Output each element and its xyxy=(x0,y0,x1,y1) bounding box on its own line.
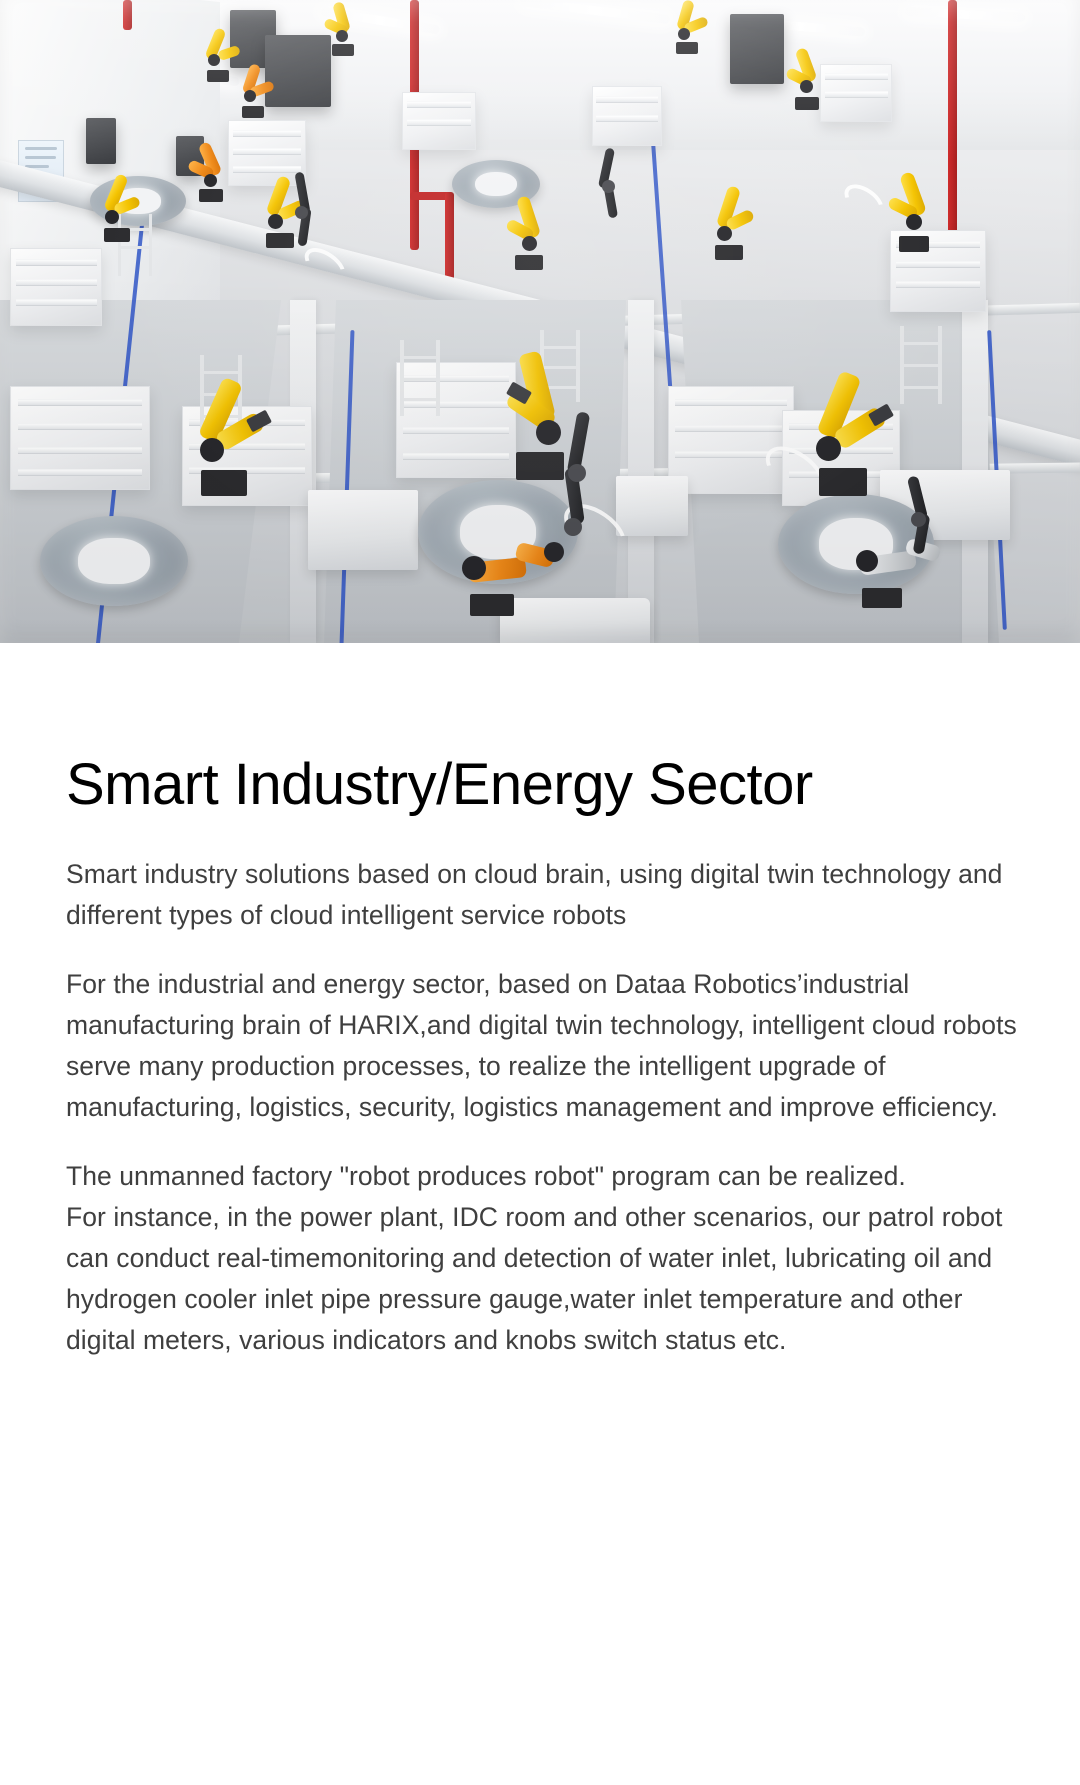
robot-arm xyxy=(500,190,558,270)
article-body: Smart industry solutions based on cloud … xyxy=(0,854,1080,1361)
article-content: Smart Industry/Energy Sector Smart indus… xyxy=(0,643,1080,1361)
collaborative-robot xyxy=(588,148,628,234)
hero-image-smart-factory xyxy=(0,0,1080,643)
robot-arm xyxy=(884,166,944,252)
intro-paragraph: Smart industry solutions based on cloud … xyxy=(66,854,1018,936)
parts-rack xyxy=(10,248,102,326)
body-paragraph-2: The unmanned factory "robot produces rob… xyxy=(66,1156,1018,1197)
red-pipe xyxy=(948,0,957,255)
robot-arm xyxy=(90,168,144,242)
robot-arm xyxy=(320,0,366,56)
robot-arm xyxy=(230,60,276,118)
machine-enclosure xyxy=(86,118,116,164)
body-paragraph-1: For the industrial and energy sector, ba… xyxy=(66,964,1018,1128)
parts-rack xyxy=(402,92,476,150)
machine-enclosure xyxy=(730,14,784,84)
work-table xyxy=(308,490,418,570)
parts-rack xyxy=(10,386,150,490)
robot-arm xyxy=(790,364,896,496)
ladder xyxy=(900,326,942,404)
rotary-fixture xyxy=(40,516,188,606)
robot-arm xyxy=(186,136,236,202)
aisle-divider xyxy=(628,300,654,643)
body-paragraph-3: For instance, in the power plant, IDC ro… xyxy=(66,1197,1018,1361)
robot-arm xyxy=(176,368,272,496)
red-pipe xyxy=(123,0,132,30)
robot-arm xyxy=(700,180,758,260)
robot-arm xyxy=(782,44,832,110)
page-title: Smart Industry/Energy Sector xyxy=(0,755,1080,816)
collaborative-robot xyxy=(894,476,946,572)
work-table xyxy=(616,476,688,536)
robot-arm xyxy=(664,0,710,54)
red-pipe xyxy=(445,192,454,282)
ladder xyxy=(400,340,440,416)
parts-rack xyxy=(592,86,662,146)
collaborative-robot xyxy=(552,412,612,552)
robot-status-halo xyxy=(839,178,890,225)
collaborative-robot xyxy=(284,172,324,264)
page-root: Smart Industry/Energy Sector Smart indus… xyxy=(0,0,1080,1785)
